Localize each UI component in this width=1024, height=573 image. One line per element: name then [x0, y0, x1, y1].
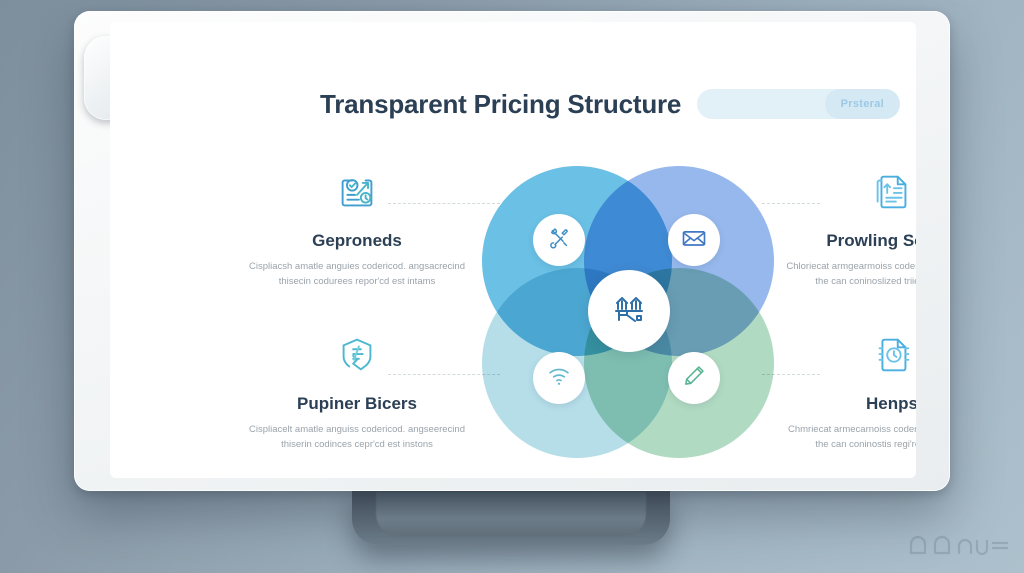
page-title: Transparent Pricing Structure [320, 89, 681, 120]
feature-description: Chmriecat armecarnoiss codencod. wedelom… [782, 423, 916, 452]
monitor-scene: Transparent Pricing Structure Prsteral [0, 0, 1024, 573]
tools-cross-icon [546, 225, 572, 256]
header-progress-bar: Prsteral [697, 89, 900, 119]
venn-badge-top-right[interactable] [668, 214, 720, 266]
feature-description: Cispliacelt amatle anguiss codericod. an… [247, 423, 467, 452]
pen-icon [681, 363, 707, 394]
building-factory-icon [609, 289, 649, 334]
screen: Transparent Pricing Structure Prsteral [110, 22, 916, 478]
slide-header: Transparent Pricing Structure Prsteral [320, 82, 900, 126]
document-clock-icon [782, 330, 916, 380]
feature-description: Cispliacsh amatle anguies codericod. ang… [247, 260, 467, 289]
feature-title: Henps [782, 394, 916, 414]
venn-diagram [478, 162, 778, 462]
status-badge[interactable]: Prsteral [825, 89, 900, 119]
venn-badge-top-left[interactable] [533, 214, 585, 266]
feature-title: Pupiner Bicers [247, 394, 467, 414]
venn-center-badge[interactable] [588, 270, 670, 352]
shield-badge-icon [247, 330, 467, 380]
feature-item-top-right[interactable]: Prowling Sourre Chloriecat armgearmoiss … [782, 167, 916, 289]
document-upload-icon [782, 167, 916, 217]
monitor-stand-inner [376, 492, 646, 536]
feature-description: Chloriecat armgearmoiss codencod. to gia… [782, 260, 916, 289]
wifi-icon [546, 363, 572, 394]
feature-title: Prowling Sourre [782, 231, 916, 251]
feature-item-bottom-left[interactable]: Pupiner Bicers Cispliacelt amatle anguis… [247, 330, 467, 452]
venn-badge-bottom-right[interactable] [668, 352, 720, 404]
growth-chart-icon [247, 167, 467, 217]
envelope-icon [680, 224, 708, 257]
feature-title: Geproneds [247, 231, 467, 251]
watermark [905, 527, 1013, 566]
feature-item-top-left[interactable]: Geproneds Cispliacsh amatle anguies code… [247, 167, 467, 289]
status-badge-label: Prsteral [841, 98, 884, 110]
venn-badge-bottom-left[interactable] [533, 352, 585, 404]
feature-item-bottom-right[interactable]: Henps Chmriecat armecarnoiss codencod. w… [782, 330, 916, 452]
